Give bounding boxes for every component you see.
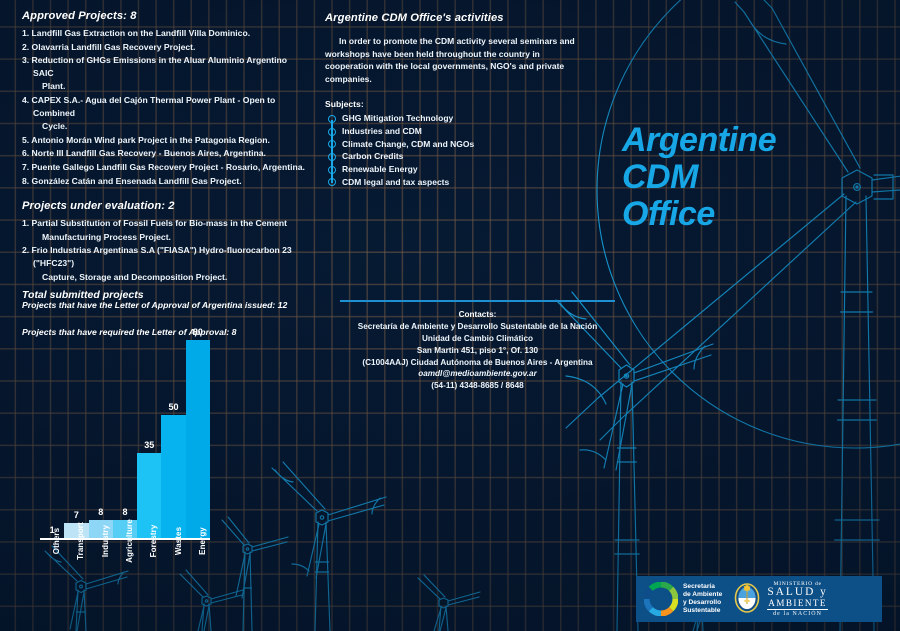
contacts-block: Contacts: Secretaría de Ambiente y Desar… [340, 300, 615, 392]
list-item: Manufacturing Process Project. [22, 231, 307, 244]
chart-bar-value: 50 [161, 402, 185, 412]
list-item: Capture, Storage and Decomposition Proje… [22, 271, 307, 284]
subject-label: Industries and CDM [342, 126, 422, 136]
subjects-label: Subjects: [325, 99, 575, 109]
chart-bar [161, 415, 185, 540]
list-item: Plant. [22, 80, 307, 93]
list-item: 2. Olavarria Landfill Gas Recovery Proje… [22, 41, 307, 54]
approved-projects-list: 1. Landfill Gas Extraction on the Landfi… [22, 27, 307, 187]
chart-category-label: Wastes [161, 540, 185, 600]
ministerio-line-4: de la NACIÓN [767, 610, 828, 617]
chart-category-label: Agriculture [113, 540, 137, 600]
chart-category-labels: OthersTransportIndustryAgricultureForest… [40, 540, 210, 600]
list-item: 1. Partial Substitution of Fossil Fuels … [22, 217, 307, 230]
subjects-list: GHG Mitigation Technology Industries and… [325, 112, 575, 188]
ministerio-line-3: AMBIENTE [767, 598, 828, 610]
chart-bar-group: 8 [113, 315, 137, 540]
chart-category-label: Others [40, 540, 64, 600]
list-item: 3. Reduction of GHGs Emissions in the Al… [22, 54, 307, 79]
list-item: 5. Antonio Morán Wind park Project in th… [22, 134, 307, 147]
list-item: 7. Puente Gallego Landfill Gas Recovery … [22, 161, 307, 174]
circle-bullet-icon [328, 178, 336, 186]
list-item: 8. González Catán and Ensenada Landfill … [22, 175, 307, 188]
circle-bullet-icon [328, 140, 336, 148]
under-evaluation-section: Projects under evaluation: 2 1. Partial … [22, 200, 307, 283]
contacts-line: Unidad de Cambio Climático [340, 333, 615, 345]
page-title-line-1: Argentine [622, 122, 882, 159]
chart-bar-value: 80 [186, 327, 210, 337]
list-item: GHG Mitigation Technology [325, 112, 575, 124]
chart-bar-value: 8 [113, 507, 137, 517]
page-title-line-3: Office [622, 196, 882, 233]
list-item: Cycle. [22, 120, 307, 133]
ministerio-label: MINISTERIO de SALUD y AMBIENTE de la NAC… [767, 581, 828, 617]
secretaria-logo: Secretaría de Ambiente y Desarrollo Sust… [644, 582, 722, 616]
chart-bar-group: 35 [137, 315, 161, 540]
chart-bar-group: 7 [64, 315, 88, 540]
contacts-email[interactable]: oamdl@medioambiente.gov.ar [340, 368, 615, 380]
chart-category-label: Industry [89, 540, 113, 600]
contacts-line: Secretaría de Ambiente y Desarrollo Sust… [340, 321, 615, 333]
letter-issued-note: Projects that have the Letter of Approva… [22, 300, 307, 310]
subject-label: Climate Change, CDM and NGOs [342, 139, 474, 149]
list-item: Industries and CDM [325, 125, 575, 137]
activities-column: Argentine CDM Office's activities In ord… [325, 12, 575, 189]
circle-bullet-icon [328, 115, 336, 123]
chart-bar-group: 1 [40, 315, 64, 540]
contacts-line: San Martin 451, piso 1°, Of. 130 [340, 345, 615, 357]
list-item: 1. Landfill Gas Extraction on the Landfi… [22, 27, 307, 40]
page-title-line-2: CDM [622, 159, 882, 196]
cdm-poster: Approved Projects: 8 1. Landfill Gas Ext… [0, 0, 900, 631]
total-submitted-projects-chart: 1788355080 [40, 315, 210, 540]
chart-bar-value: 8 [89, 507, 113, 517]
subject-label: GHG Mitigation Technology [342, 113, 453, 123]
secretaria-label: Secretaría de Ambiente y Desarrollo Sust… [683, 583, 722, 615]
contacts-heading: Contacts: [340, 310, 615, 319]
activities-paragraph: In order to promote the CDM activity sev… [325, 35, 575, 85]
list-item: CDM legal and tax aspects [325, 176, 575, 188]
chart-bar-group: 80 [186, 315, 210, 540]
list-item: Carbon Credits [325, 150, 575, 162]
subject-label: CDM legal and tax aspects [342, 177, 449, 187]
chart-bar-value: 35 [137, 440, 161, 450]
chart-bar-group: 50 [161, 315, 185, 540]
ministerio-line-2: SALUD y [767, 587, 828, 598]
activities-heading: Argentine CDM Office's activities [325, 12, 575, 24]
chart-bar [186, 340, 210, 540]
list-item: 2. Frio Industrias Argentinas S.A ("FIAS… [22, 244, 307, 269]
subject-label: Carbon Credits [342, 151, 403, 161]
chart-title: Total submitted projects [22, 289, 144, 301]
chart-bar-value: 7 [64, 510, 88, 520]
chart-category-label: Transport [64, 540, 88, 600]
chart-category-label: Forestry [137, 540, 161, 600]
sustainability-ring-icon [644, 582, 678, 616]
argentina-coat-of-arms-icon [732, 582, 762, 616]
list-item: 6. Norte III Landfill Gas Recovery - Bue… [22, 147, 307, 160]
page-title: Argentine CDM Office [622, 122, 882, 233]
chart-bars: 1788355080 [40, 315, 210, 540]
circle-bullet-icon [328, 128, 336, 136]
approved-projects-heading: Approved Projects: 8 [22, 10, 307, 22]
under-evaluation-heading: Projects under evaluation: 2 [22, 200, 307, 212]
list-item: Renewable Energy [325, 163, 575, 175]
chart-category-label: Energy [186, 540, 210, 600]
circle-bullet-icon [328, 153, 336, 161]
list-item: 4. CAPEX S.A.- Agua del Cajón Thermal Po… [22, 94, 307, 119]
contacts-line: (C1004AAJ) Ciudad Autónoma de Buenos Air… [340, 357, 615, 369]
chart-bar-group: 8 [89, 315, 113, 540]
footer-logo-bar: Secretaría de Ambiente y Desarrollo Sust… [636, 576, 882, 622]
ministerio-logo: MINISTERIO de SALUD y AMBIENTE de la NAC… [732, 581, 828, 617]
contacts-divider [340, 300, 615, 302]
subject-label: Renewable Energy [342, 164, 418, 174]
contacts-phone: (54-11) 4348-8685 / 8648 [340, 380, 615, 392]
circle-bullet-icon [328, 166, 336, 174]
list-item: Climate Change, CDM and NGOs [325, 138, 575, 150]
